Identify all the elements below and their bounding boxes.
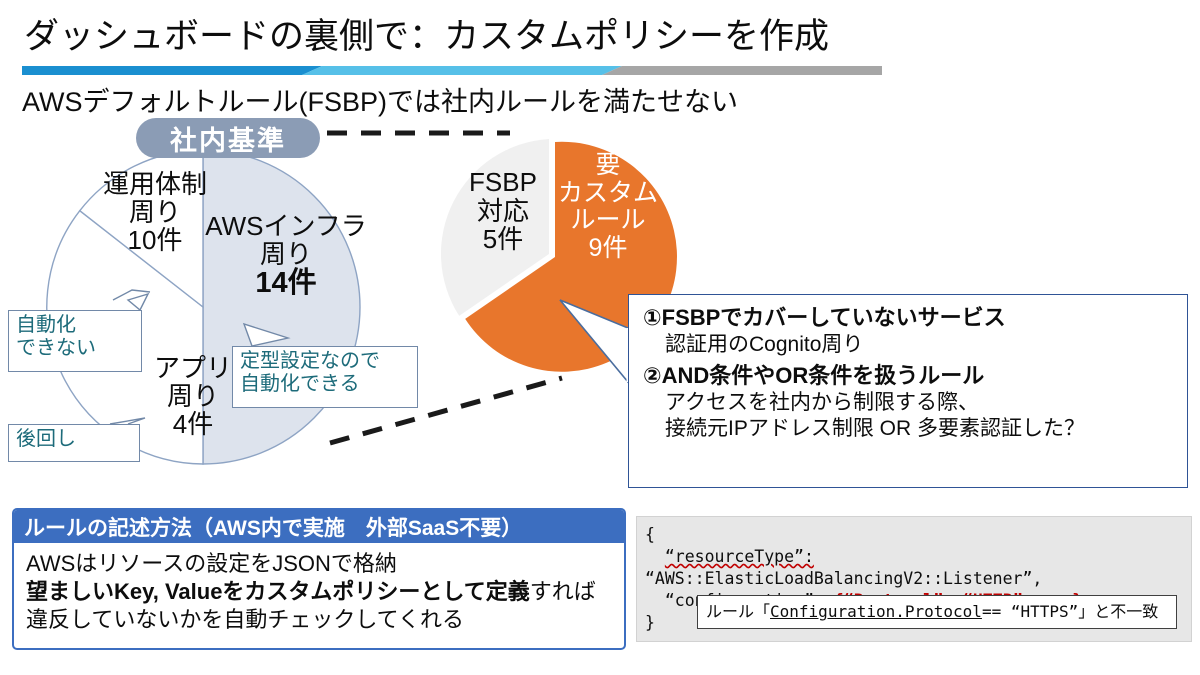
pie-label-fsbp: FSBP 対応 5件 — [448, 168, 558, 254]
code-line-3: “AWS::ElasticLoadBalancingV2::Listener”, — [645, 568, 1191, 590]
callout-can-automate: 定型設定なので 自動化できる — [232, 346, 418, 408]
json-code-sample: { “resourceType”: “AWS::ElasticLoadBalan… — [636, 516, 1192, 642]
rule-authoring-header: ルールの記述方法（AWS内で実施 外部SaaS不要） — [14, 510, 624, 543]
rule-authoring-line-2-tail: すれば — [530, 579, 596, 604]
code-resource-type-key: “resourceType”: — [665, 547, 814, 566]
reason-2-detail-line1: アクセスを社内から制限する際、 — [643, 390, 1177, 416]
tooltip-prefix: ルール「 — [706, 601, 770, 622]
rule-authoring-box: ルールの記述方法（AWS内で実施 外部SaaS不要） AWSはリソースの設定をJ… — [12, 508, 626, 650]
rule-authoring-line-2: 望ましいKey, Valueをカスタムポリシーとして定義すれば — [26, 578, 624, 606]
rule-authoring-line-3: 違反していないかを自動チェックしてくれる — [26, 606, 624, 634]
pie-label-aws-infra: AWSインフラ 周り 14件 — [196, 212, 376, 299]
internal-standard-pie-chart: 運用体制 周り 10件 アプリ 周り 4件 AWSインフラ 周り 14件 — [28, 142, 378, 472]
internal-standard-pill-label: 社内基準 — [136, 118, 320, 158]
page-subtitle: AWSデフォルトルール(FSBP)では社内ルールを満たせない — [22, 80, 738, 119]
slide-root: ダッシュボードの裏側で：カスタムポリシーを作成 AWSデフォルトルール(FSBP… — [0, 0, 1200, 675]
reason-1-heading: ①FSBPでカバーしていないサービス — [643, 305, 1177, 332]
tooltip-suffix: == “HTTPS”」と不一致 — [982, 601, 1158, 622]
code-line-1: { — [645, 524, 1191, 546]
callout-postponed: 後回し — [8, 424, 140, 462]
title-underline-bar — [22, 66, 882, 75]
pie-label-custom-rules: 要 カスタム ルール 9件 — [548, 152, 668, 262]
reason-2-heading: ②AND条件やOR条件を扱うルール — [643, 363, 1177, 390]
callout-cannot-automate: 自動化 できない — [8, 310, 142, 372]
code-line-2: “resourceType”: — [645, 546, 1191, 568]
tooltip-rule-path: Configuration.Protocol — [770, 601, 982, 622]
rule-authoring-body: AWSはリソースの設定をJSONで格納 望ましいKey, Valueをカスタムポ… — [14, 543, 624, 634]
reason-1-detail: 認証用のCognito周り — [643, 332, 1177, 358]
rule-authoring-line-2-bold: 望ましいKey, Valueをカスタムポリシーとして定義 — [26, 579, 530, 604]
rule-authoring-line-1: AWSはリソースの設定をJSONで格納 — [26, 550, 624, 578]
rule-mismatch-tooltip: ルール「Configuration.Protocol == “HTTPS”」と不… — [697, 595, 1177, 629]
page-title: ダッシュボードの裏側で：カスタムポリシーを作成 — [24, 8, 829, 59]
custom-rule-reasons-panel: ①FSBPでカバーしていないサービス 認証用のCognito周り ②AND条件や… — [628, 294, 1188, 488]
reason-2-detail-line2: 接続元IPアドレス制限 OR 多要素認証した？ — [643, 416, 1177, 442]
